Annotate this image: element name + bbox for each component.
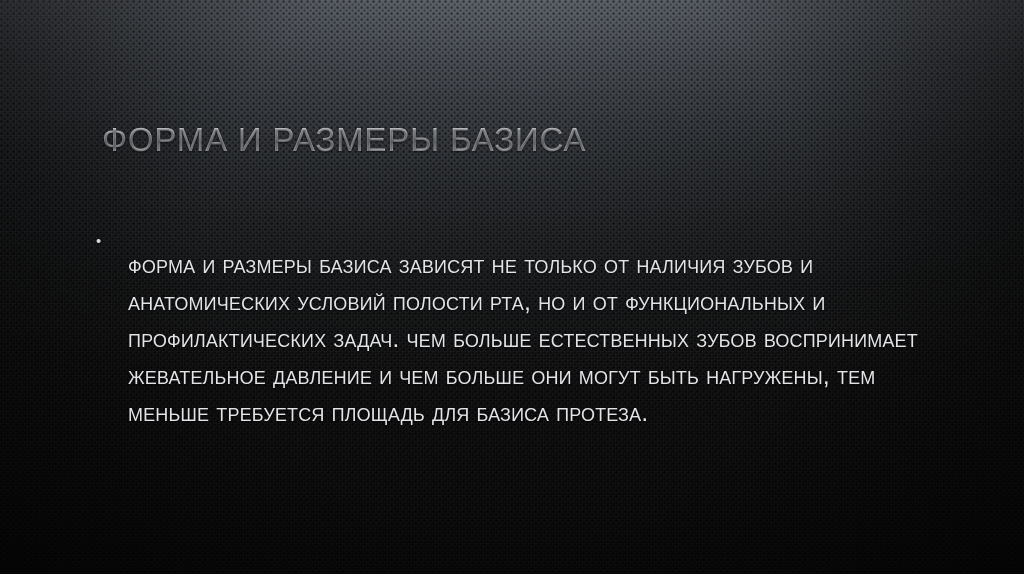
bullet-point-icon: • (96, 222, 128, 249)
slide-title: Форма и размеры базиса (102, 122, 932, 158)
slide-body: • Форма и размеры базиса зависят не толь… (96, 222, 934, 457)
bullet-list-item: • Форма и размеры базиса зависят не толь… (96, 222, 934, 457)
bullet-item-text: Форма и размеры базиса зависят не только… (128, 247, 934, 432)
slide-content: Форма и размеры базиса • Форма и размеры… (0, 0, 1024, 574)
presentation-slide: Форма и размеры базиса • Форма и размеры… (0, 0, 1024, 574)
